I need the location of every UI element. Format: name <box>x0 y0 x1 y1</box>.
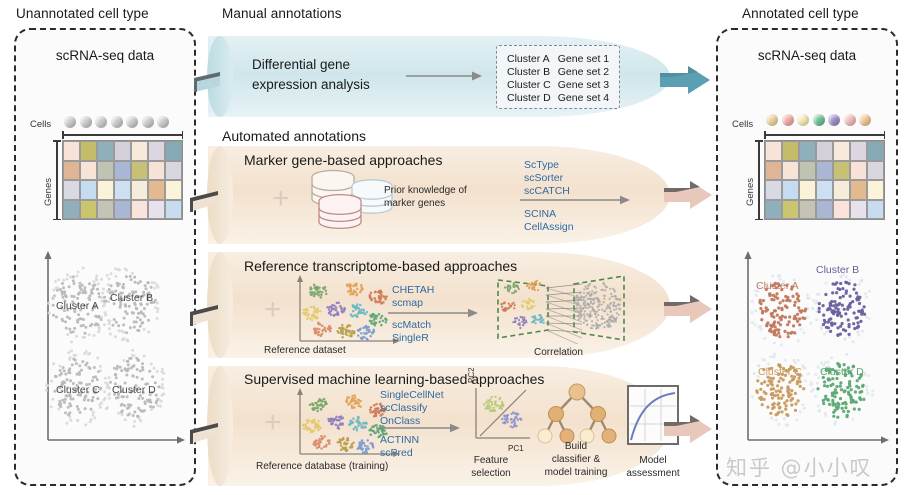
cell-bead <box>766 114 778 126</box>
gene-set-name: Gene set 2 <box>558 66 616 79</box>
right-heatmap: Cells Genes <box>718 30 896 170</box>
right-genes-axis <box>758 140 760 220</box>
grid-cell <box>833 161 850 181</box>
grid-cell <box>833 141 850 161</box>
left-cluster-label: Cluster D <box>112 384 156 396</box>
grid-cell <box>114 200 131 220</box>
grid-cell <box>833 200 850 220</box>
reference-output-caption: Correlation <box>534 347 583 360</box>
left-cells-label: Cells <box>30 119 51 130</box>
cell-bead <box>813 114 825 126</box>
reference-row-title: Reference transcriptome-based approaches <box>244 258 517 274</box>
feature-selection-pca <box>468 386 534 448</box>
tool-sctype: ScType <box>524 159 559 171</box>
grid-cell <box>765 200 782 220</box>
gene-set-row: Cluster CGene set 3 <box>507 79 616 92</box>
correlation-diagram <box>490 272 630 344</box>
cell-bead <box>64 116 76 128</box>
grid-cell <box>63 141 80 161</box>
grid-cell <box>816 200 833 220</box>
gene-set-row: Cluster DGene set 4 <box>507 92 616 105</box>
ml-step1-line1: Feature <box>460 455 522 468</box>
cell-bead <box>844 114 856 126</box>
grid-cell <box>114 161 131 181</box>
grid-cell <box>80 180 97 200</box>
tool-scmatch: scMatch <box>392 319 431 331</box>
left-genes-label: Genes <box>43 178 54 206</box>
grid-cell <box>850 141 867 161</box>
cell-bead <box>80 116 92 128</box>
ml-step3-line1: Model <box>622 455 684 468</box>
manual-process-line2: expression analysis <box>252 77 370 92</box>
grid-cell <box>867 200 884 220</box>
grid-cell <box>816 161 833 181</box>
grid-cell <box>63 200 80 220</box>
grid-cell <box>148 180 165 200</box>
ml-plus-icon: + <box>264 408 282 438</box>
ml-tools-group2: ACTINN scPred <box>380 434 419 460</box>
grid-cell <box>97 141 114 161</box>
header-unannotated: Unannotated cell type <box>16 6 149 21</box>
cell-bead <box>95 116 107 128</box>
reference-flow-arrow <box>388 306 480 320</box>
grid-cell <box>799 200 816 220</box>
pca-x-axis-label: PC1 <box>508 443 524 456</box>
connector-tab-ml <box>188 418 224 450</box>
marker-middle-caption-line2: marker genes <box>384 198 445 211</box>
grid-cell <box>131 180 148 200</box>
marker-middle-caption-line1: Prior knowledge of <box>384 185 467 198</box>
tool-actinn: ACTINN <box>380 434 419 446</box>
ml-flow-arrow <box>376 421 462 435</box>
ml-row-title: Supervised machine learning-based approa… <box>244 371 544 387</box>
left-genes-axis <box>56 140 58 220</box>
left-cluster-scatter: Cluster ACluster BCluster CCluster D <box>30 248 185 466</box>
left-cluster-label: Cluster B <box>110 292 153 304</box>
grid-cell <box>782 200 799 220</box>
tool-chetah: CHETAH <box>392 284 434 296</box>
grid-cell <box>782 161 799 181</box>
right-cells-axis <box>764 134 885 136</box>
panel-annotated: scRNA-seq data Cells Genes Cluster AClus… <box>716 28 898 486</box>
grid-cell <box>867 161 884 181</box>
right-cluster-label: Cluster B <box>816 264 859 276</box>
ml-step2-line1: Build <box>526 441 626 454</box>
decision-tree-icon <box>534 381 620 447</box>
panel-unannotated: scRNA-seq data Cells Genes Cluster AClus… <box>14 28 196 486</box>
gene-set-result-box: Cluster AGene set 1Cluster BGene set 2Cl… <box>496 45 620 109</box>
grid-cell <box>97 200 114 220</box>
grid-cell <box>165 200 182 220</box>
arrow-reference-to-annotated <box>664 292 720 326</box>
right-cluster-label: Cluster D <box>820 366 864 378</box>
grid-cell <box>833 180 850 200</box>
grid-cell <box>765 180 782 200</box>
right-cluster-label: Cluster A <box>756 280 799 292</box>
grid-cell <box>165 180 182 200</box>
gene-set-name: Gene set 1 <box>558 53 616 66</box>
ml-step2-line2: classifier & <box>526 454 626 467</box>
ml-step3-line2: assessment <box>616 468 690 481</box>
cell-bead <box>859 114 871 126</box>
arrow-marker-to-annotated <box>664 178 720 212</box>
gene-set-name: Gene set 4 <box>558 92 616 105</box>
ml-input-caption: Reference database (training) <box>256 461 388 474</box>
grid-cell <box>799 161 816 181</box>
marker-flow-arrow <box>520 193 632 207</box>
grid-cell <box>97 161 114 181</box>
manual-process-line1: Differential gene <box>252 57 350 72</box>
tool-singler: SingleR <box>392 332 429 344</box>
right-genes-label: Genes <box>745 178 756 206</box>
arrow-ml-to-annotated <box>664 412 720 446</box>
grid-cell <box>799 180 816 200</box>
marker-tools-group2: SCINA CellAssign <box>524 208 574 234</box>
grid-cell <box>850 200 867 220</box>
right-cluster-scatter: Cluster ACluster BCluster CCluster D <box>730 248 890 466</box>
connector-tab-manual <box>192 68 226 100</box>
gene-set-name: Gene set 3 <box>558 79 616 92</box>
reference-plus-icon: + <box>264 295 282 325</box>
cell-bead <box>782 114 794 126</box>
grid-cell <box>782 180 799 200</box>
grid-cell <box>765 141 782 161</box>
figure-root: Unannotated cell type Manual annotations… <box>0 0 910 495</box>
tool-singlecellnet: SingleCellNet <box>380 389 444 401</box>
connector-tab-reference <box>188 300 224 332</box>
left-bead-row <box>64 116 169 128</box>
grid-cell <box>80 141 97 161</box>
left-cluster-label: Cluster C <box>56 384 100 396</box>
tool-scsorter: scSorter <box>524 172 563 184</box>
tool-cellassign: CellAssign <box>524 221 574 233</box>
grid-cell <box>63 180 80 200</box>
grid-cell <box>97 180 114 200</box>
cell-bead <box>126 116 138 128</box>
pca-y-axis-label: PC2 <box>466 367 479 383</box>
grid-cell <box>131 161 148 181</box>
tool-scclassify: scClassify <box>380 402 427 414</box>
connector-tab-marker <box>188 186 224 218</box>
grid-cell <box>816 141 833 161</box>
grid-cell <box>148 200 165 220</box>
cell-bead <box>111 116 123 128</box>
cell-bead <box>142 116 154 128</box>
left-cells-axis <box>62 134 183 136</box>
right-bead-row <box>766 114 871 126</box>
ml-step1-line2: selection <box>460 468 522 481</box>
cluster-name: Cluster B <box>507 66 558 79</box>
cluster-name: Cluster A <box>507 53 558 66</box>
header-annotated: Annotated cell type <box>742 6 859 21</box>
right-cluster-label: Cluster C <box>758 366 802 378</box>
cluster-name: Cluster C <box>507 79 558 92</box>
left-cluster-label: Cluster A <box>56 300 99 312</box>
reference-input-caption: Reference dataset <box>264 345 346 358</box>
tool-scina: SCINA <box>524 208 556 220</box>
grid-cell <box>131 141 148 161</box>
marker-plus-icon: + <box>272 184 290 214</box>
right-cells-label: Cells <box>732 119 753 130</box>
cell-bead <box>828 114 840 126</box>
grid-cell <box>131 200 148 220</box>
grid-cell <box>850 161 867 181</box>
cell-bead <box>157 116 169 128</box>
grid-cell <box>165 161 182 181</box>
manual-flow-arrow <box>406 68 484 84</box>
grid-cell <box>148 161 165 181</box>
grid-cell <box>114 141 131 161</box>
tool-scpred: scPred <box>380 447 413 459</box>
grid-cell <box>165 141 182 161</box>
grid-cell <box>148 141 165 161</box>
header-manual-annotations: Manual annotations <box>222 6 342 21</box>
reference-tools-group2: scMatch SingleR <box>392 319 431 345</box>
grid-cell <box>867 180 884 200</box>
gene-set-row: Cluster BGene set 2 <box>507 66 616 79</box>
grid-cell <box>867 141 884 161</box>
grid-cell <box>850 180 867 200</box>
cluster-name: Cluster D <box>507 92 558 105</box>
left-expression-grid <box>62 140 183 220</box>
gene-set-row: Cluster AGene set 1 <box>507 53 616 66</box>
grid-cell <box>816 180 833 200</box>
grid-cell <box>80 200 97 220</box>
arrow-manual-to-annotated <box>660 62 718 98</box>
grid-cell <box>782 141 799 161</box>
cell-bead <box>797 114 809 126</box>
grid-cell <box>80 161 97 181</box>
grid-cell <box>114 180 131 200</box>
grid-cell <box>799 141 816 161</box>
grid-cell <box>63 161 80 181</box>
grid-cell <box>765 161 782 181</box>
right-expression-grid <box>764 140 885 220</box>
left-heatmap: Cells Genes <box>16 30 194 170</box>
automated-annotations-title: Automated annotations <box>222 128 366 144</box>
